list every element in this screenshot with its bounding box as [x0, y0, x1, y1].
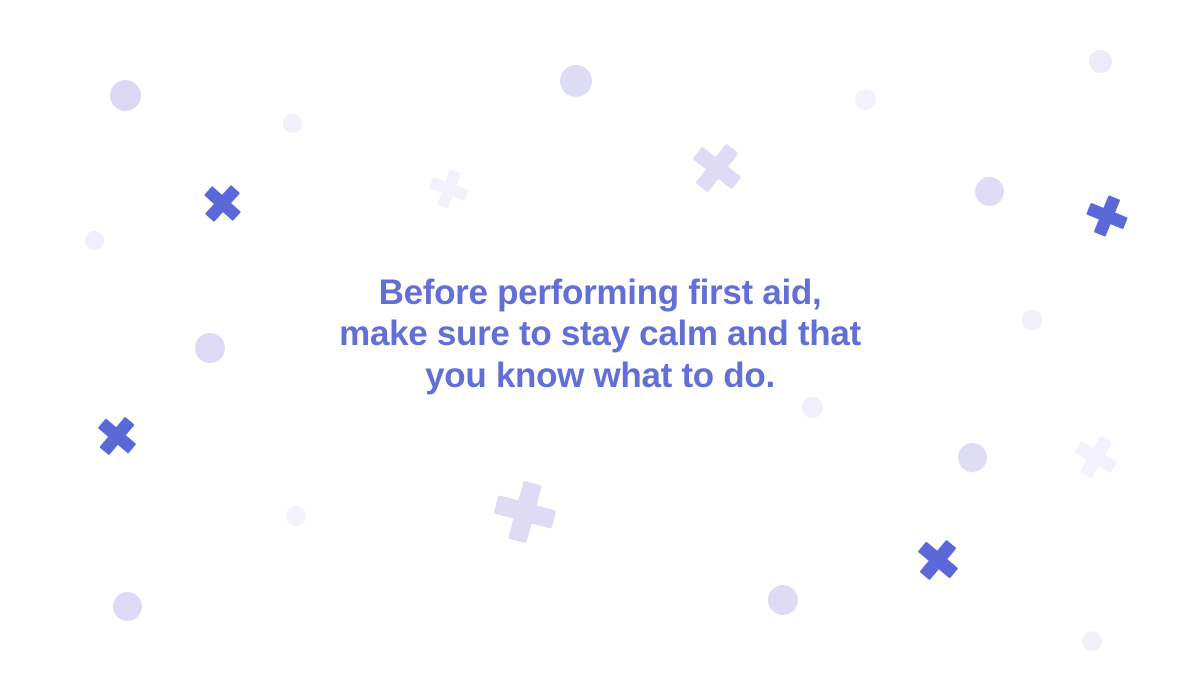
circle-faint-6 [286, 506, 306, 526]
circle-faint-3 [85, 231, 104, 250]
circle-lavender-6 [958, 443, 987, 472]
circle-lavender-4 [560, 65, 592, 97]
cross-blue-2-icon [1081, 190, 1133, 242]
cross-blue-1-icon [195, 176, 250, 231]
circle-lavender-2 [1089, 50, 1112, 73]
circle-faint-7 [1082, 631, 1102, 651]
page-title: Before performing first aid, make sure t… [339, 272, 861, 396]
circle-lavender-1 [110, 80, 141, 111]
headline-block: Before performing first aid, make sure t… [0, 272, 1200, 396]
circle-faint-1 [283, 114, 302, 133]
circle-lavender-7 [768, 585, 798, 615]
cross-lavender-1-icon [682, 133, 752, 203]
cross-blue-4-icon [908, 530, 967, 589]
slide-canvas: Before performing first aid, make sure t… [0, 0, 1200, 675]
circle-faint-2 [855, 89, 876, 110]
cross-faint-2-icon [1067, 428, 1124, 485]
circle-lavender-8 [113, 592, 142, 621]
cross-blue-3-icon [89, 408, 145, 464]
circle-lavender-3 [975, 177, 1004, 206]
cross-lavender-2-icon [488, 475, 561, 548]
circle-faint-5 [802, 397, 823, 418]
cross-faint-1-icon [425, 165, 474, 214]
